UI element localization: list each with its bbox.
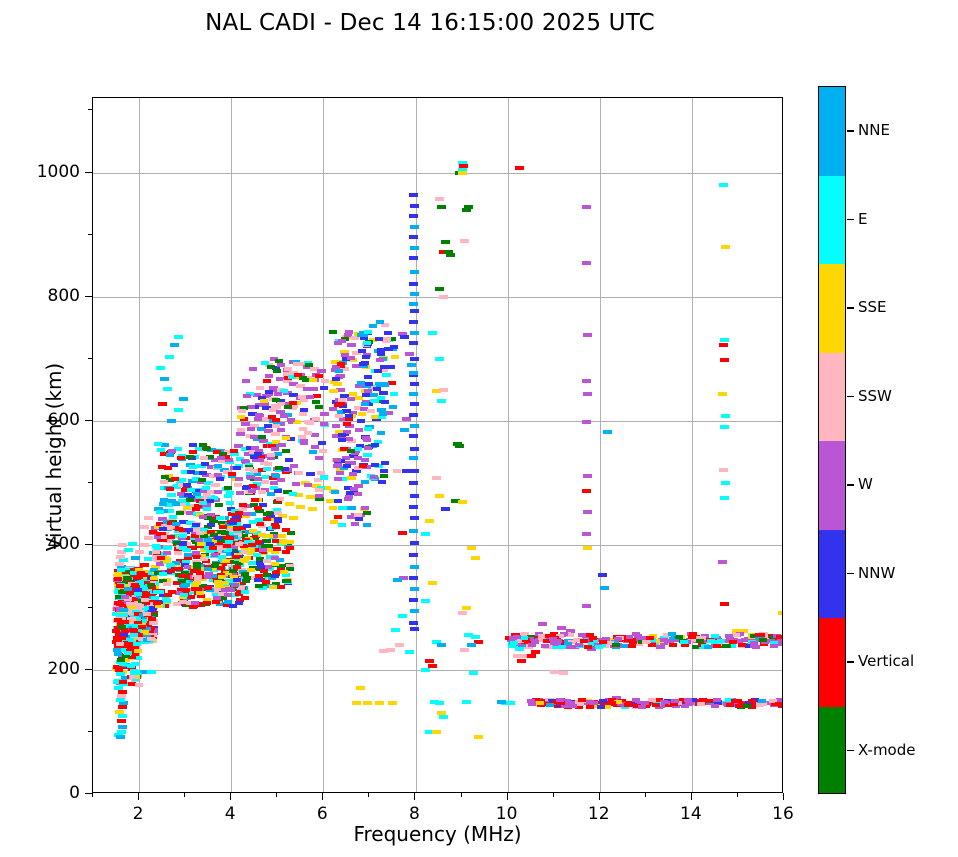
scatter-point [632, 698, 640, 702]
scatter-point [750, 644, 758, 648]
scatter-point [300, 439, 308, 443]
scatter-point [129, 675, 137, 679]
scatter-point [379, 412, 387, 416]
scatter-point [211, 483, 220, 487]
scatter-point [428, 581, 437, 585]
scatter-point [293, 362, 301, 366]
scatter-point [196, 591, 204, 595]
colorbar-tick [847, 750, 854, 751]
scatter-point [265, 390, 273, 394]
scatter-point [377, 352, 385, 356]
scatter-point [410, 627, 419, 631]
scatter-point [223, 544, 231, 548]
scatter-point [599, 640, 607, 644]
x-tick-label: 6 [317, 804, 328, 824]
scatter-point [189, 605, 197, 609]
scatter-point [236, 491, 244, 495]
y-tick-minor [88, 358, 92, 359]
scatter-point [193, 562, 201, 566]
scatter-point [282, 550, 290, 554]
scatter-point [575, 643, 583, 647]
scatter-point [370, 475, 378, 479]
scatter-point [117, 719, 126, 723]
scatter-point [284, 367, 292, 371]
scatter-point [250, 455, 258, 459]
scatter-point [586, 705, 594, 709]
scatter-point [471, 556, 480, 560]
scatter-point [374, 369, 382, 373]
scatter-point [458, 500, 467, 504]
scatter-point [177, 456, 185, 460]
scatter-point [217, 456, 225, 460]
scatter-point [720, 602, 729, 606]
y-tick-label: 1000 [32, 162, 80, 182]
scatter-point [121, 620, 129, 624]
scatter-point [121, 595, 129, 599]
plot-area [92, 97, 783, 793]
scatter-point [206, 542, 214, 546]
scatter-point [375, 337, 383, 341]
scatter-point [123, 576, 131, 580]
scatter-point [179, 546, 187, 550]
scatter-point [156, 590, 164, 594]
scatter-point [576, 702, 584, 706]
scatter-point [306, 395, 314, 399]
scatter-point [364, 375, 372, 379]
scatter-point [354, 513, 362, 517]
scatter-point [363, 438, 371, 442]
scatter-point [124, 651, 132, 655]
scatter-point [407, 363, 416, 367]
scatter-point [163, 582, 171, 586]
y-tick-major [85, 420, 92, 421]
scatter-point [157, 556, 165, 560]
scatter-point [660, 638, 668, 642]
scatter-point [294, 373, 302, 377]
scatter-point [628, 644, 636, 648]
x-tick-label: 8 [409, 804, 420, 824]
scatter-point [241, 422, 250, 426]
scatter-point [166, 453, 174, 457]
scatter-point [320, 475, 328, 479]
scatter-point [583, 474, 592, 478]
scatter-point [292, 482, 300, 486]
scatter-point [652, 703, 660, 707]
scatter-point [118, 690, 127, 694]
scatter-point [133, 642, 141, 646]
scatter-point [559, 671, 568, 675]
scatter-point [660, 700, 668, 704]
scatter-point [115, 710, 124, 714]
scatter-point [428, 331, 437, 335]
scatter-point [632, 632, 640, 636]
scatter-point [225, 587, 233, 591]
y-tick-major [85, 544, 92, 545]
scatter-point [279, 541, 287, 545]
scatter-point [583, 392, 592, 396]
scatter-point [202, 486, 210, 490]
scatter-point [536, 701, 544, 705]
scatter-point [344, 497, 352, 501]
scatter-point [725, 634, 733, 638]
scatter-point [280, 414, 288, 418]
scatter-point [671, 699, 679, 703]
scatter-point [332, 424, 340, 428]
scatter-point [229, 569, 237, 573]
scatter-point [421, 599, 430, 603]
scatter-point [546, 703, 554, 707]
colorbar-segment-nnw [819, 530, 845, 619]
y-tick-major [85, 669, 92, 670]
scatter-point [361, 361, 369, 365]
colorbar-label-nne: NNE [858, 121, 890, 139]
scatter-point [253, 553, 261, 557]
scatter-point [582, 379, 591, 383]
scatter-point [409, 214, 418, 218]
y-tick-minor [88, 234, 92, 235]
scatter-point [527, 654, 536, 658]
scatter-point [204, 586, 212, 590]
scatter-point [409, 341, 418, 345]
scatter-point [230, 449, 238, 453]
scatter-point [271, 432, 280, 436]
scatter-point [248, 543, 256, 547]
scatter-point [167, 535, 175, 539]
colorbar-tick [847, 307, 854, 308]
scatter-point [657, 645, 665, 649]
scatter-point [334, 477, 342, 481]
y-tick-label: 200 [32, 659, 80, 679]
scatter-point [247, 427, 255, 431]
scatter-point [140, 525, 149, 529]
scatter-point [439, 295, 448, 299]
scatter-point [531, 650, 540, 654]
scatter-point [304, 431, 312, 435]
scatter-point [309, 378, 317, 382]
scatter-point [410, 516, 419, 520]
scatter-point [347, 506, 356, 510]
scatter-point [156, 366, 165, 370]
scatter-point [395, 643, 404, 647]
scatter-point [269, 585, 277, 589]
scatter-point [351, 522, 359, 526]
colorbar-segment-nne [819, 87, 845, 176]
scatter-point [200, 456, 208, 460]
scatter-point [338, 433, 346, 437]
scatter-point [260, 569, 268, 573]
scatter-point [280, 570, 288, 574]
scatter-point [435, 701, 444, 705]
scatter-point [238, 409, 246, 413]
scatter-point [195, 538, 203, 542]
scatter-point [254, 477, 262, 481]
scatter-point [196, 571, 204, 575]
scatter-point [166, 563, 174, 567]
colorbar-label-vertical: Vertical [858, 652, 914, 670]
scatter-point [336, 471, 344, 475]
scatter-point [237, 428, 245, 432]
scatter-point [642, 640, 650, 644]
scatter-point [117, 694, 126, 698]
y-tick-major [85, 296, 92, 297]
scatter-point [719, 183, 728, 187]
scatter-point [600, 586, 609, 590]
scatter-point [409, 282, 418, 286]
scatter-point [668, 632, 676, 636]
scatter-point [721, 414, 730, 418]
scatter-point [282, 528, 290, 532]
scatter-point [318, 441, 326, 445]
scatter-point [164, 593, 172, 597]
scatter-point [179, 397, 188, 401]
scatter-point [410, 609, 419, 613]
x-tick-minor [184, 793, 185, 797]
scatter-point [251, 498, 259, 502]
scatter-point [237, 415, 245, 419]
scatter-point [118, 636, 126, 640]
scatter-point [337, 362, 345, 366]
scatter-point [261, 480, 269, 484]
scatter-point [377, 396, 385, 400]
scatter-point [582, 420, 591, 424]
scatter-point [528, 643, 536, 647]
scatter-point [187, 470, 195, 474]
scatter-point [243, 524, 251, 528]
scatter-point [234, 483, 242, 487]
scatter-point [184, 553, 192, 557]
scatter-point [333, 458, 341, 462]
scatter-point [147, 670, 156, 674]
scatter-point [364, 330, 372, 334]
scatter-point [179, 534, 187, 538]
scatter-point [198, 478, 206, 482]
scatter-point [474, 735, 483, 739]
colorbar-tick [847, 573, 854, 574]
scatter-point [128, 542, 137, 546]
scatter-point [550, 670, 559, 674]
scatter-point [233, 578, 241, 582]
scatter-point [192, 551, 200, 555]
x-tick-label: 14 [680, 804, 702, 824]
scatter-point [135, 683, 143, 687]
scatter-point [271, 447, 279, 451]
scatter-point [135, 575, 143, 579]
scatter-point [228, 472, 236, 476]
scatter-point [409, 256, 418, 260]
scatter-point [363, 341, 371, 345]
scatter-point [352, 701, 361, 705]
scatter-point [720, 358, 729, 362]
scatter-point [254, 417, 262, 421]
scatter-point [312, 400, 320, 404]
scatter-point [250, 435, 258, 439]
scatter-point [409, 371, 418, 375]
scatter-point [441, 240, 450, 244]
scatter-point [384, 347, 392, 351]
scatter-point [469, 671, 478, 675]
scatter-point [203, 447, 211, 451]
scatter-point [239, 558, 247, 562]
scatter-point [441, 507, 450, 511]
x-tick-major [414, 793, 415, 800]
scatter-point [367, 409, 375, 413]
scatter-point [410, 357, 419, 361]
scatter-point [580, 639, 588, 643]
scatter-point [118, 705, 127, 709]
scatter-point [515, 166, 524, 170]
scatter-point [300, 408, 308, 412]
scatter-point [256, 458, 264, 462]
scatter-point [362, 355, 370, 359]
scatter-point [462, 700, 471, 704]
scatter-point [203, 601, 211, 605]
scatter-point [338, 506, 347, 510]
scatter-point [599, 699, 607, 703]
scatter-point [315, 374, 323, 378]
scatter-point [375, 701, 384, 705]
scatter-point [612, 643, 620, 647]
scatter-point [277, 428, 285, 432]
scatter-point [272, 525, 280, 529]
scatter-point [282, 436, 290, 440]
scatter-point [233, 466, 241, 470]
scatter-point [192, 523, 200, 527]
x-tick-label: 4 [225, 804, 236, 824]
scatter-point [711, 704, 719, 708]
scatter-point [213, 596, 221, 600]
scatter-point [355, 517, 363, 521]
scatter-point [759, 638, 767, 642]
scatter-point [200, 557, 208, 561]
scatter-point [435, 494, 444, 498]
scatter-point [120, 608, 128, 612]
scatter-point [379, 391, 388, 395]
scatter-point [338, 438, 346, 442]
scatter-point [260, 399, 268, 403]
scatter-point [272, 474, 280, 478]
scatter-point [389, 405, 397, 409]
scatter-point [116, 555, 125, 559]
scatter-point [409, 302, 418, 306]
scatter-point [775, 702, 783, 706]
scatter-point [187, 488, 195, 492]
scatter-point [435, 197, 444, 201]
scatter-point [274, 511, 282, 515]
scatter-point [329, 506, 337, 510]
scatter-point [409, 621, 418, 625]
colorbar-label-x-mode: X-mode [858, 741, 915, 759]
scatter-point [371, 443, 379, 447]
scatter-point [114, 577, 122, 581]
scatter-point [381, 461, 389, 465]
y-tick-major [85, 172, 92, 173]
scatter-point [233, 565, 241, 569]
scatter-point [557, 701, 565, 705]
scatter-point [334, 499, 342, 503]
scatter-point [143, 612, 151, 616]
scatter-point [720, 338, 729, 342]
scatter-point [758, 699, 766, 703]
scatter-point [471, 635, 480, 639]
scatter-point [351, 336, 359, 340]
scatter-point [248, 561, 256, 565]
scatter-point [359, 464, 367, 468]
scatter-point [255, 413, 263, 417]
scatter-point [383, 337, 391, 341]
scatter-point [410, 382, 419, 386]
scatter-point [119, 558, 128, 562]
scatter-point [680, 640, 688, 644]
scatter-point [241, 596, 249, 600]
scatter-point [382, 373, 391, 377]
scatter-point [386, 648, 395, 652]
scatter-point [334, 515, 342, 519]
x-tick-minor [368, 793, 369, 797]
scatter-point [409, 598, 418, 602]
scatter-point [164, 466, 172, 470]
scatter-point [131, 556, 140, 560]
scatter-point [222, 559, 230, 563]
scatter-point [282, 449, 290, 453]
scatter-point [241, 572, 249, 576]
scatter-point [127, 664, 135, 668]
scatter-point [363, 511, 371, 515]
scatter-point [381, 323, 389, 327]
scatter-point [256, 386, 264, 390]
scatter-point [582, 532, 591, 536]
y-axis-title: Virtual height (km) [42, 307, 66, 607]
scatter-point [410, 204, 419, 208]
scatter-point [358, 412, 366, 416]
scatter-point [439, 715, 448, 719]
scatter-point [169, 515, 177, 519]
scatter-point [345, 414, 353, 418]
scatter-point [311, 433, 319, 437]
scatter-point [254, 506, 262, 510]
scatter-point [393, 469, 401, 473]
scatter-point [369, 324, 377, 328]
scatter-point [312, 417, 320, 421]
scatter-point [410, 309, 419, 313]
scatter-point [194, 577, 202, 581]
scatter-point [149, 621, 157, 625]
scatter-point [268, 415, 276, 419]
y-tick-label: 800 [32, 286, 80, 306]
scatter-point [185, 528, 193, 532]
scatter-point [211, 564, 219, 568]
scatter-point [432, 730, 441, 734]
scatter-point [255, 584, 263, 588]
scatter-point [278, 534, 286, 538]
x-tick-minor [276, 793, 277, 797]
scatter-point [435, 357, 444, 361]
scatter-point [425, 519, 434, 523]
scatter-point [255, 574, 263, 578]
scatter-point [140, 543, 149, 547]
colorbar-segment-e [819, 176, 845, 265]
scatter-point [315, 405, 323, 409]
scatter-point [409, 434, 418, 438]
scatter-point [264, 424, 272, 428]
scatter-point [354, 492, 362, 496]
scatter-point [124, 587, 132, 591]
scatter-point [242, 379, 250, 383]
scatter-point [130, 633, 138, 637]
scatter-point [371, 463, 379, 467]
colorbar [818, 86, 846, 794]
scatter-point [263, 379, 271, 383]
x-tick-major [691, 793, 692, 800]
